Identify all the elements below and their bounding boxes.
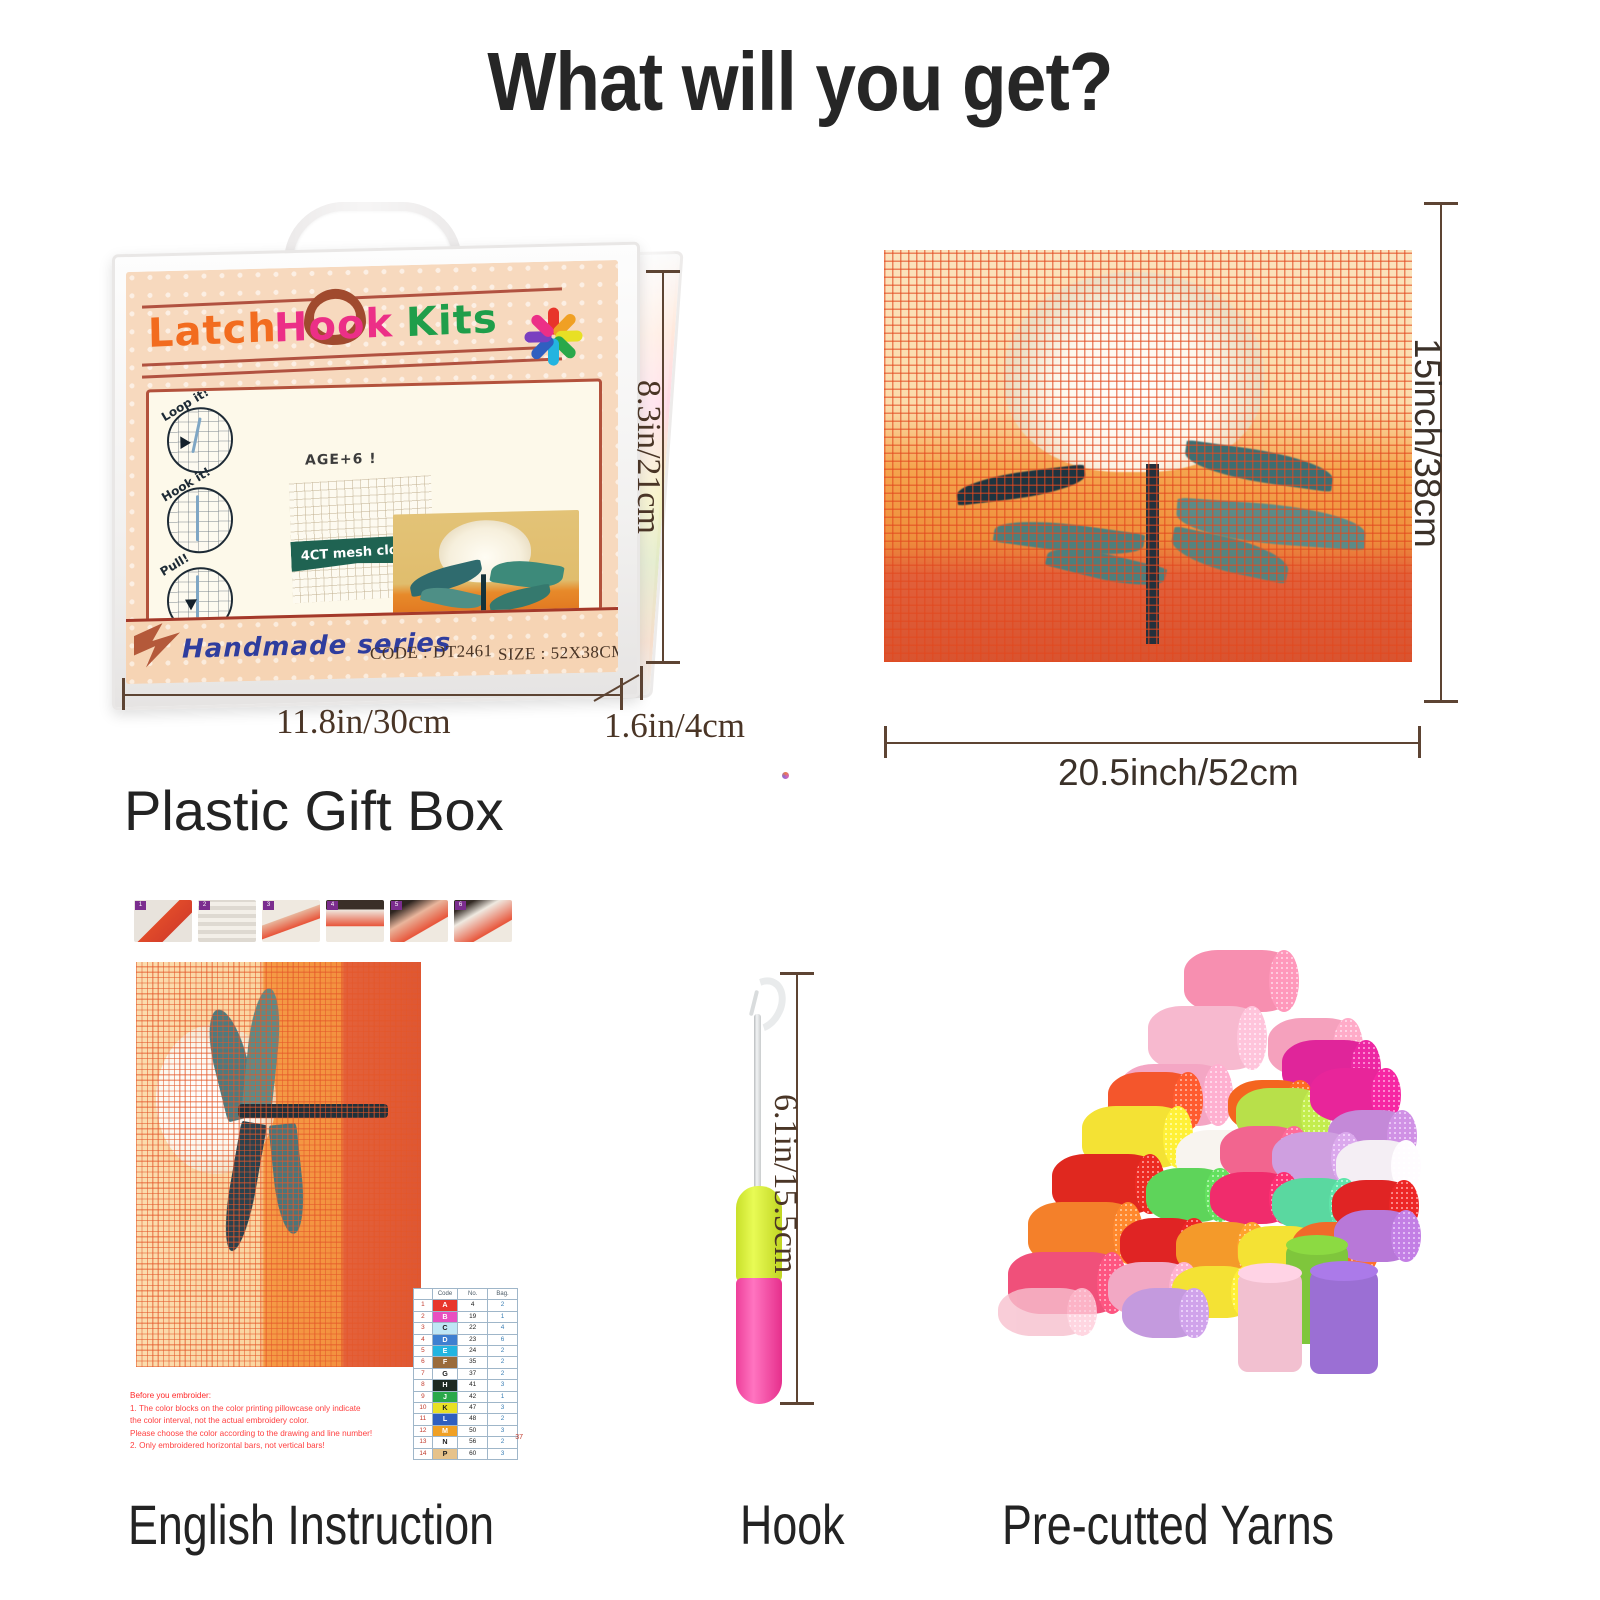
hook-tick-top <box>780 972 814 975</box>
instruction-thumbnails: 1 2 3 4 5 6 <box>134 900 512 942</box>
legend-code-swatch: C <box>432 1323 457 1334</box>
gift-box-caption: Plastic Gift Box <box>124 778 504 843</box>
legend-number: 37 <box>458 1368 488 1379</box>
legend-code-swatch: K <box>432 1403 457 1414</box>
legend-index: 5 <box>414 1346 433 1357</box>
legend-row: 6F352 <box>414 1357 518 1368</box>
thumbnail-4: 4 <box>326 900 384 942</box>
box-width-dim-label: 11.8in/30cm <box>276 702 451 742</box>
yarn-bundle <box>998 1288 1094 1336</box>
english-instruction-sheet: 1 2 3 4 5 6 Code No. <box>128 900 528 1480</box>
yarn-bundle-standing <box>1238 1272 1302 1372</box>
legend-code-swatch: M <box>432 1425 457 1436</box>
legend-number: 35 <box>458 1357 488 1368</box>
legend-code-swatch: N <box>432 1437 457 1448</box>
legend-index: 2 <box>414 1311 433 1322</box>
hook-shaft <box>754 1014 761 1196</box>
pinwheel-icon <box>520 303 586 371</box>
legend-code-swatch: G <box>432 1368 457 1379</box>
legend-bag: 4 <box>488 1323 518 1334</box>
legend-header-row: Code No. Bag. <box>414 1289 518 1300</box>
legend-bag: 2 <box>488 1357 518 1368</box>
legend-code-swatch: F <box>432 1357 457 1368</box>
pre-cutted-yarns-image <box>980 940 1450 1400</box>
legend-code-swatch: J <box>432 1391 457 1402</box>
thumbnail-6: 6 <box>454 900 512 942</box>
box-height-tick-bottom <box>646 661 680 664</box>
legend-code-swatch: H <box>432 1380 457 1391</box>
legend-code-swatch: A <box>432 1300 457 1311</box>
age-note: AGE+6 ! <box>305 451 377 469</box>
legend-code-swatch: B <box>432 1311 457 1322</box>
box-depth-tick <box>640 666 643 700</box>
legend-header-0 <box>414 1289 433 1300</box>
box-width-tick-left <box>122 678 125 710</box>
canvas-width-dim-label: 20.5inch/52cm <box>1058 752 1299 794</box>
stray-pixel-artifact <box>782 772 789 779</box>
hook-dim-label: 6.1in/15.5cm <box>766 1094 804 1273</box>
notes-line-1: 1. The color blocks on the color printin… <box>130 1403 430 1416</box>
logo-word-kits: Kits <box>406 296 499 346</box>
legend-number: 19 <box>458 1311 488 1322</box>
notes-heading: Before you embroider: <box>130 1390 430 1403</box>
page-title: What will you get? <box>96 34 1504 130</box>
legend-bag: 3 <box>488 1425 518 1436</box>
thumbnail-1: 1 <box>134 900 192 942</box>
legend-header-no: No. <box>458 1289 488 1300</box>
legend-row: 5E242 <box>414 1346 518 1357</box>
thumbnail-5: 5 <box>390 900 448 942</box>
canvas-height-tick-bottom <box>1424 700 1458 703</box>
legend-number: 56 <box>458 1437 488 1448</box>
canvas-grid-overlay <box>884 250 1412 662</box>
gift-box-image: Latch Hook Kits Loop it! Hook it! <box>112 196 672 696</box>
legend-number: 4 <box>458 1300 488 1311</box>
chart-grid-overlay <box>136 962 421 1367</box>
legend-bag: 1 <box>488 1311 518 1322</box>
box-depth-dim-label: 1.6in/4cm <box>604 706 745 746</box>
product-code: CODE : DT2461 <box>370 641 493 664</box>
hook-tick-bottom <box>780 1402 814 1405</box>
legend-code-swatch: D <box>432 1334 457 1345</box>
box-printed-card: Latch Hook Kits Loop it! Hook it! <box>126 260 618 684</box>
legend-number: 24 <box>458 1346 488 1357</box>
yarn-bundle <box>1184 950 1296 1012</box>
yarn-bundle-standing <box>1310 1270 1378 1374</box>
notes-line-2: the color interval, not the actual embro… <box>130 1415 430 1428</box>
legend-index: 7 <box>414 1368 433 1379</box>
legend-bag: 3 <box>488 1448 518 1459</box>
notes-line-3: Please choose the color according to the… <box>130 1428 430 1441</box>
legend-number: 60 <box>458 1448 488 1459</box>
product-size: SIZE : 52X38CM <box>498 642 618 665</box>
logo-word-hook: Hook <box>274 300 394 351</box>
legend-bag: 3 <box>488 1403 518 1414</box>
box-width-dim-line <box>124 694 622 696</box>
yarn-bundle <box>1122 1288 1206 1338</box>
notes-line-4: 2. Only embroidered horizontal bars, not… <box>130 1440 430 1453</box>
legend-bag: 1 <box>488 1391 518 1402</box>
legend-index: 6 <box>414 1357 433 1368</box>
legend-code-swatch: L <box>432 1414 457 1425</box>
legend-number: 50 <box>458 1425 488 1436</box>
canvas-width-dim-line <box>886 742 1420 744</box>
legend-bag: 6 <box>488 1334 518 1345</box>
before-you-embroider-notes: Before you embroider: 1. The color block… <box>130 1390 430 1453</box>
legend-bag: 2 <box>488 1437 518 1448</box>
printed-mesh-canvas <box>884 250 1412 662</box>
legend-number: 23 <box>458 1334 488 1345</box>
hook-tip <box>729 969 795 1041</box>
canvas-width-tick-left <box>884 726 887 758</box>
yarns-caption: Pre-cutted Yarns <box>1002 1492 1334 1557</box>
legend-index: 3 <box>414 1323 433 1334</box>
legend-code-swatch: E <box>432 1346 457 1357</box>
legend-number: 22 <box>458 1323 488 1334</box>
box-bottom-band: Handmade series CODE : DT2461 SIZE : 52X… <box>126 607 618 684</box>
canvas-width-tick-right <box>1418 726 1421 758</box>
canvas-height-tick-top <box>1424 202 1458 205</box>
box-height-dim-label: 8.3in/21cm <box>629 380 667 534</box>
logo-word-latch: Latch <box>148 305 278 357</box>
legend-row: 3C224 <box>414 1323 518 1334</box>
legend-total: 37 <box>515 1434 523 1441</box>
legend-number: 47 <box>458 1403 488 1414</box>
zigzag-ornament <box>134 623 180 668</box>
legend-number: 41 <box>458 1380 488 1391</box>
legend-number: 42 <box>458 1391 488 1402</box>
legend-index: 1 <box>414 1300 433 1311</box>
legend-row: 7G372 <box>414 1368 518 1379</box>
legend-bag: 2 <box>488 1368 518 1379</box>
legend-bag: 3 <box>488 1380 518 1391</box>
legend-index: 4 <box>414 1334 433 1345</box>
canvas-height-dim-label: 15inch/38cm <box>1406 338 1448 548</box>
legend-bag: 2 <box>488 1414 518 1425</box>
legend-number: 48 <box>458 1414 488 1425</box>
hook-grip-lower <box>736 1278 782 1404</box>
box-height-tick-top <box>646 270 680 273</box>
hook-caption: Hook <box>740 1492 845 1557</box>
legend-header-code: Code <box>432 1289 457 1300</box>
legend-code-swatch: P <box>432 1448 457 1459</box>
legend-row: 1A42 <box>414 1300 518 1311</box>
legend-bag: 2 <box>488 1346 518 1357</box>
legend-row: 2B191 <box>414 1311 518 1322</box>
legend-row: 4D236 <box>414 1334 518 1345</box>
instruction-caption: English Instruction <box>128 1492 494 1557</box>
legend-bag: 2 <box>488 1300 518 1311</box>
thumbnail-3: 3 <box>262 900 320 942</box>
yarn-bundle <box>1148 1006 1264 1070</box>
instruction-chart <box>136 962 421 1367</box>
legend-header-bag: Bag. <box>488 1289 518 1300</box>
thumbnail-2: 2 <box>198 900 256 942</box>
